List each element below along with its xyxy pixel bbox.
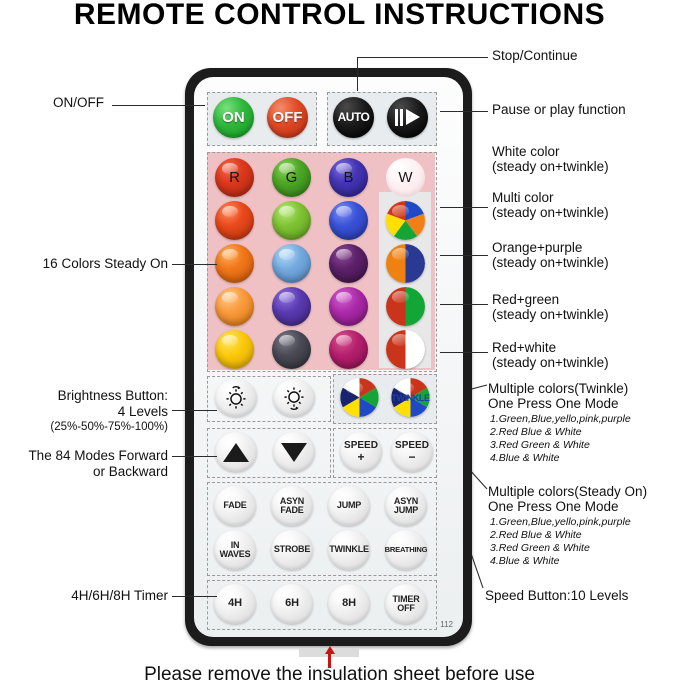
off-label: OFF [273,110,303,125]
color-button-darkpurple[interactable] [329,244,368,283]
remote-body: 112 ON OFF AUTO R G B W [185,68,472,646]
label-steady-title-line1: Multiple colors(Steady On) [488,484,679,500]
pause-play-button[interactable] [387,97,428,138]
brightness-down-button[interactable] [273,379,315,417]
mode-label: IN WAVES [220,541,251,559]
mode-label: ASYN FADE [280,497,304,515]
sun-down-icon [280,384,308,412]
mode-label: BREATHING [385,546,428,554]
color-button-green[interactable]: G [272,158,311,197]
brightness-up-button[interactable] [215,379,257,417]
label-orange-purple-line1: Orange+purple [492,240,672,256]
speed-plus-button[interactable]: SPEED + [340,432,382,472]
leader-stop-continue-v [357,57,358,91]
triangle-up-icon [223,443,249,462]
color-letter-r: R [229,170,240,185]
label-modes-line2: or Backward [2,464,168,480]
leader-onoff [112,105,205,106]
leader-pause-play [440,111,488,112]
play-pause-icon [395,109,421,126]
mode-label: FADE [223,501,246,510]
color-button-violet[interactable] [272,287,311,326]
speed-minus-button[interactable]: SPEED − [391,432,433,472]
red-white-button[interactable] [386,330,425,369]
mode-button-twinkle[interactable]: TWINKLE [328,530,370,570]
label-onoff: ON/OFF [14,95,104,111]
leader-16-colors [172,264,217,265]
label-16-colors: 16 Colors Steady On [8,256,168,272]
label-twinkle-item-1: 1.Green,Blue,yello,pink,purple [490,413,679,426]
label-red-green-line1: Red+green [492,292,672,308]
color-letter-b: B [343,170,353,185]
auto-button[interactable]: AUTO [333,97,374,138]
leader-red-green [440,304,488,305]
color-letter-w: W [398,170,412,185]
label-speed-button: Speed Button:10 Levels [485,588,677,604]
timer-label: 8H [342,598,356,609]
label-brightness-line1: Brightness Button: [8,388,168,404]
label-orange-purple-line2: (steady on+twinkle) [492,255,672,271]
leader-brightness [172,410,217,411]
off-button[interactable]: OFF [267,97,308,138]
label-brightness-line3: (25%-50%-75%-100%) [8,421,168,434]
timer-off-button[interactable]: TIMER OFF [385,584,427,624]
leader-modes [172,456,217,457]
label-steady-item-4: 4.Blue & White [490,555,679,568]
mode-button-fade[interactable]: FADE [214,486,256,526]
label-white-color-line2: (steady on+twinkle) [492,159,672,175]
label-twinkle-item-4: 4.Blue & White [490,452,679,465]
on-label: ON [222,110,245,125]
label-timer: 4H/6H/8H Timer [20,588,168,604]
color-button-orange[interactable] [215,244,254,283]
timer-label: 6H [285,598,299,609]
timer-label: 4H [228,598,242,609]
mode-button-asyn-jump[interactable]: ASYN JUMP [385,486,427,526]
on-button[interactable]: ON [213,97,254,138]
mode-button-breathing[interactable]: BREATHING [385,530,427,570]
mode-backward-button[interactable] [273,432,315,472]
label-brightness-line2: 4 Levels [8,404,168,420]
timer-label: TIMER OFF [393,595,420,613]
mode-label: JUMP [337,501,361,510]
color-button-pink[interactable] [329,330,368,369]
red-green-button[interactable] [386,287,425,326]
label-steady-item-2: 2.Red Blue & White [490,529,679,542]
mode-button-strobe[interactable]: STROBE [271,530,313,570]
page-title: REMOTE CONTROL INSTRUCTIONS [0,0,679,32]
mode-label: ASYN JUMP [394,497,418,515]
triangle-down-icon [281,443,307,462]
leader-stop-continue-h [357,57,488,58]
label-multi-color-line2: (steady on+twinkle) [492,205,672,221]
label-red-white-line1: Red+white [492,340,672,356]
label-white-color-line1: White color [492,144,672,160]
label-multi-color-line1: Multi color [492,190,672,206]
mode-label: STROBE [274,545,310,554]
mode-button-in-waves[interactable]: IN WAVES [214,530,256,570]
label-pause-play: Pause or play function [492,102,677,118]
mode-button-jump[interactable]: JUMP [328,486,370,526]
label-steady-item-1: 1.Green,Blue,yello,pink,purple [490,516,679,529]
color-button-blue[interactable]: B [329,158,368,197]
orange-purple-button[interactable] [386,244,425,283]
label-stop-continue: Stop/Continue [492,48,672,64]
color-letter-g: G [286,170,298,185]
color-button-magenta[interactable] [329,287,368,326]
label-steady-title-line2: One Press One Mode [488,499,679,515]
label-twinkle-item-2: 2.Red Blue & White [490,426,679,439]
color-button-skyblue[interactable] [272,244,311,283]
color-button-yellow[interactable] [215,330,254,369]
mode-button-asyn-fade[interactable]: ASYN FADE [271,486,313,526]
color-button-lime[interactable] [272,201,311,240]
color-button-red2[interactable] [215,201,254,240]
label-red-green-line2: (steady on+twinkle) [492,307,672,323]
bottom-caption: Please remove the insulation sheet befor… [0,664,679,686]
speed-minus-sign: − [408,451,415,463]
leader-timer [172,596,217,597]
remote-model-code: 112 [440,620,453,629]
twinkle-labeled-button[interactable]: TWINKLE [391,378,430,417]
timer-button-8h[interactable]: 8H [328,584,370,624]
timer-button-6h[interactable]: 6H [271,584,313,624]
multicolor-button[interactable] [386,201,425,240]
label-steady-item-3: 3.Red Green & White [490,542,679,555]
auto-label: AUTO [338,111,370,123]
color-button-lightorange[interactable] [215,287,254,326]
mode-label: TWINKLE [329,545,369,554]
speed-plus-sign: + [357,451,364,463]
color-button-charcoal[interactable] [272,330,311,369]
leader-multi-color [440,207,488,208]
leader-red-white [440,352,488,353]
label-twinkle-title-line1: Multiple colors(Twinkle) [488,381,678,397]
color-button-white[interactable]: W [386,158,425,197]
twinkle-multicolor-button[interactable] [340,378,379,417]
sun-up-icon [222,384,250,412]
label-modes-line1: The 84 Modes Forward [2,448,168,464]
mode-forward-button[interactable] [215,432,257,472]
leader-orange-purple [440,255,488,256]
timer-button-4h[interactable]: 4H [214,584,256,624]
label-twinkle-item-3: 3.Red Green & White [490,439,679,452]
label-red-white-line2: (steady on+twinkle) [492,355,672,371]
label-twinkle-title-line2: One Press One Mode [488,396,678,412]
color-button-blue2[interactable] [329,201,368,240]
color-button-red[interactable]: R [215,158,254,197]
twinkle-button-label: TWINKLE [391,393,430,403]
